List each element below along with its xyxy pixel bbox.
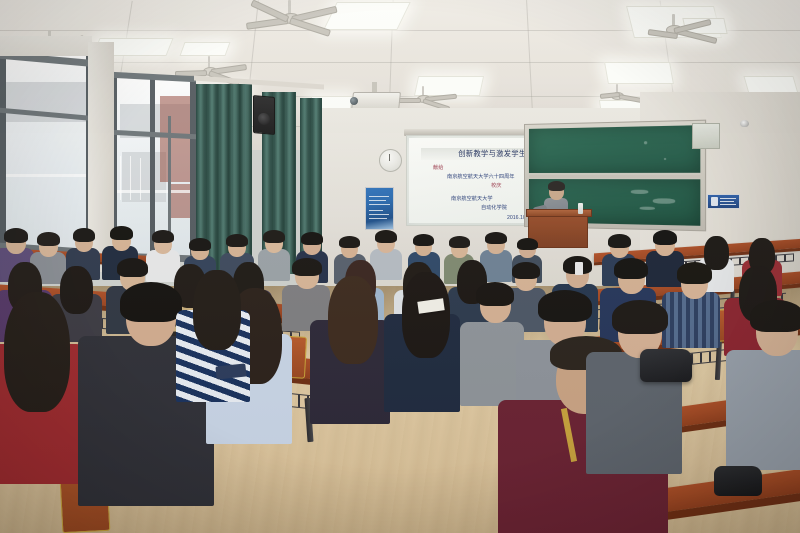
chalkboard-upper-panel [529, 125, 700, 173]
slide-line-2: 南京航空航天大学六十四周年 [447, 173, 514, 180]
smartphone [575, 262, 583, 275]
blue-safety-sign [707, 194, 740, 209]
ceiling-light-panel [179, 42, 230, 56]
black-backpack [640, 349, 692, 382]
slide-line-4: 南京航空航天大学 [451, 195, 493, 202]
wall-speaker [253, 95, 275, 135]
presenter-hair [548, 181, 565, 191]
water-bottle [578, 203, 583, 214]
slide-line-3: 校庆 [491, 182, 501, 189]
black-backpack [714, 466, 762, 496]
wall-clock [379, 149, 402, 172]
projector-lens-icon [350, 97, 358, 105]
slide-line-1: 献给 [433, 164, 443, 171]
safety-sign-pictogram-icon [711, 197, 718, 206]
speaker-cone-icon [258, 112, 270, 125]
ceiling-security-camera [740, 120, 749, 127]
blue-wall-poster [365, 187, 394, 230]
slide-line-5: 自动化学院 [481, 204, 507, 211]
ceiling-light-panel [414, 76, 484, 96]
wall-electrical-box [692, 123, 720, 149]
lecture-hall-photo: 创新教学与激发学生潜能 献给 南京航空航天大学六十四周年 校庆 南京航空航天大学… [0, 0, 800, 533]
chalkboard-divider [529, 175, 700, 178]
ceiling-light-panel [604, 62, 674, 84]
